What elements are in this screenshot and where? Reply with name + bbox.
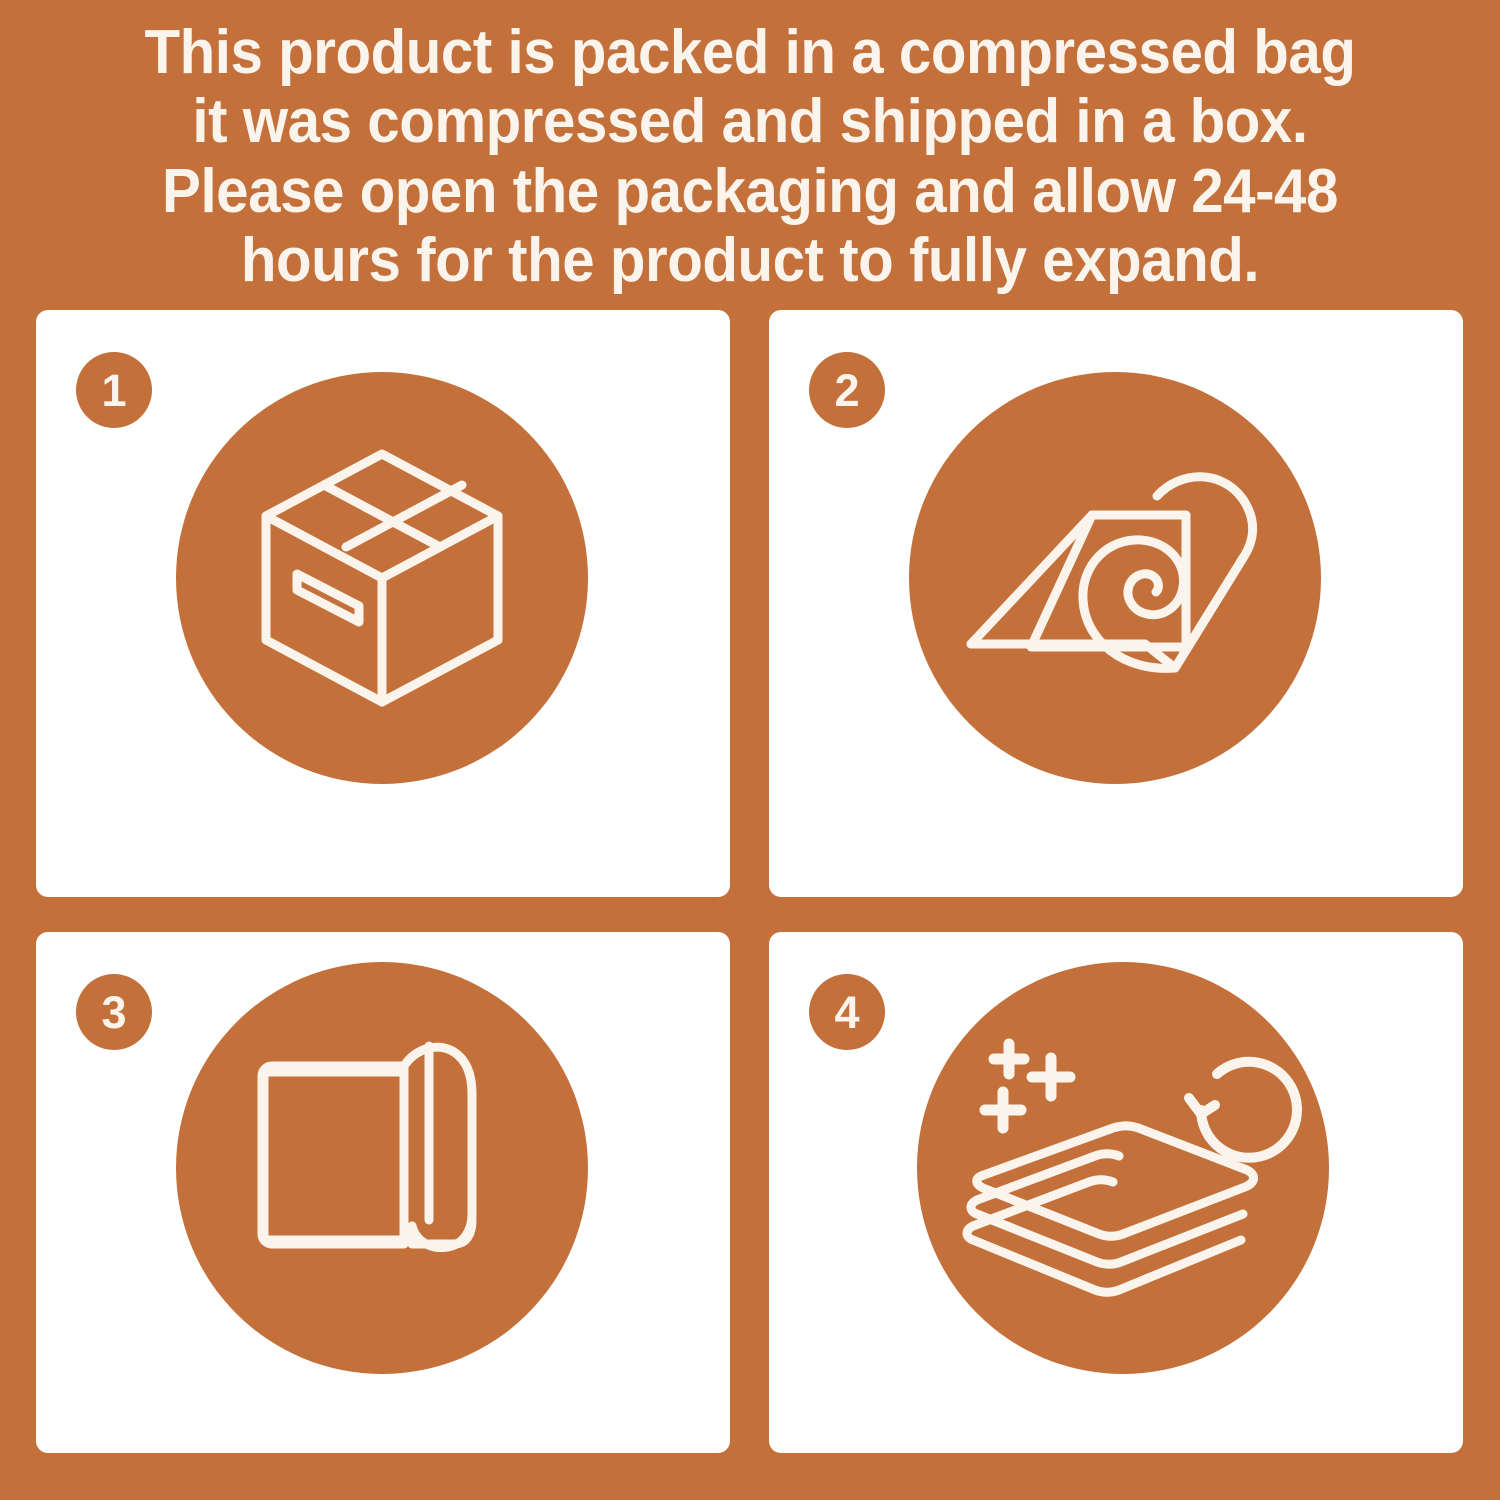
shipping-box-icon [176, 372, 588, 784]
step-panel-2[interactable]: 2 [769, 310, 1463, 897]
unrolling-mat-icon [176, 962, 588, 1374]
step-panel-4[interactable]: 4 [769, 932, 1463, 1453]
step-number-badge-1: 1 [76, 352, 152, 428]
step-number-badge-4: 4 [809, 974, 885, 1050]
twenty-four-hour-badge-icon [1189, 1062, 1297, 1158]
header-instruction-text: This product is packed in a compressed b… [83, 18, 1418, 296]
step-panel-1[interactable]: 1 [36, 310, 730, 897]
step-number-badge-2: 2 [809, 352, 885, 428]
sparkle-icon [985, 1044, 1070, 1128]
step-panel-3[interactable]: 3 [36, 932, 730, 1453]
steps-grid: 1 [36, 310, 1463, 1453]
infographic-root: This product is packed in a compressed b… [0, 0, 1500, 1500]
expanded-bedding-icon [917, 962, 1329, 1374]
rolled-mat-icon [909, 372, 1321, 784]
header: This product is packed in a compressed b… [0, 18, 1500, 288]
step-number-badge-3: 3 [76, 974, 152, 1050]
